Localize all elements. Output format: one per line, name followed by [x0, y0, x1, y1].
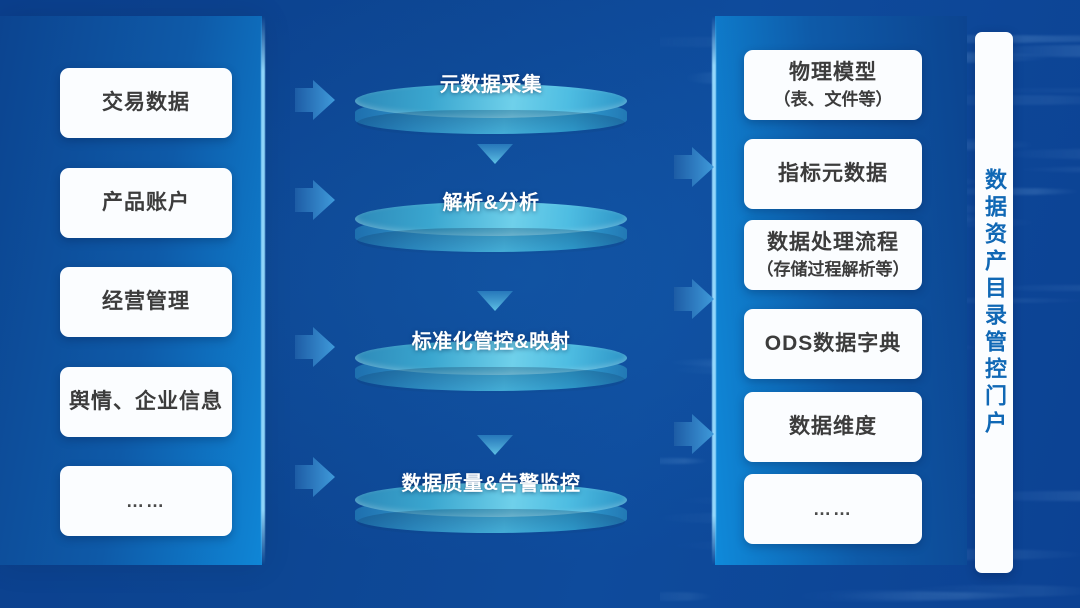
arrow-right-icon	[295, 178, 337, 222]
arrow-right-icon	[295, 455, 337, 499]
card-title: 交易数据	[102, 90, 190, 116]
stage-label: 数据质量&告警监控	[355, 467, 627, 496]
list-item[interactable]: 舆情、企业信息	[60, 367, 232, 437]
stage-label: 解析&分析	[355, 186, 627, 215]
card-subtitle: （表、文件等）	[774, 89, 893, 110]
diagram-canvas: 交易数据 产品账户 经营管理 舆情、企业信息 …… 元数据采集 解析&分析	[0, 0, 1080, 608]
stage-label: 元数据采集	[355, 68, 627, 97]
arrow-right-icon	[674, 277, 716, 321]
portal-title-text: 数据资产目录管控门户	[983, 168, 1005, 438]
stage-label: 标准化管控&映射	[355, 325, 627, 354]
chevron-down-icon	[475, 290, 515, 312]
chevron-down-icon	[475, 434, 515, 456]
arrow-right-icon	[295, 325, 337, 369]
arrow-right-icon	[295, 78, 337, 122]
card-title: 物理模型	[789, 60, 877, 86]
stage-cylinder[interactable]: 解析&分析	[355, 202, 627, 266]
card-title: 产品账户	[102, 190, 190, 216]
card-title: 指标元数据	[778, 161, 888, 187]
chevron-down-icon	[475, 143, 515, 165]
stage-cylinder[interactable]: 元数据采集	[355, 84, 627, 148]
list-item[interactable]: ……	[60, 466, 232, 536]
arrow-right-icon	[674, 412, 716, 456]
card-title: ……	[813, 498, 853, 521]
card-title: ODS数据字典	[765, 331, 902, 357]
arrow-right-icon	[674, 145, 716, 189]
portal-title-bar[interactable]: 数据资产目录管控门户	[975, 32, 1013, 573]
list-item[interactable]: 经营管理	[60, 267, 232, 337]
card-title: 数据处理流程	[767, 230, 899, 256]
list-item[interactable]: 产品账户	[60, 168, 232, 238]
card-title: 数据维度	[789, 414, 877, 440]
list-item[interactable]: ……	[744, 474, 922, 544]
list-item[interactable]: 交易数据	[60, 68, 232, 138]
list-item[interactable]: ODS数据字典	[744, 309, 922, 379]
list-item[interactable]: 数据维度	[744, 392, 922, 462]
card-subtitle: （存储过程解析等）	[757, 259, 910, 280]
card-title: ……	[126, 490, 166, 513]
card-title: 舆情、企业信息	[69, 389, 223, 415]
card-title: 经营管理	[102, 289, 190, 315]
list-item[interactable]: 数据处理流程 （存储过程解析等）	[744, 220, 922, 290]
list-item[interactable]: 指标元数据	[744, 139, 922, 209]
stage-cylinder[interactable]: 数据质量&告警监控	[355, 483, 627, 547]
list-item[interactable]: 物理模型 （表、文件等）	[744, 50, 922, 120]
stage-cylinder[interactable]: 标准化管控&映射	[355, 341, 627, 405]
